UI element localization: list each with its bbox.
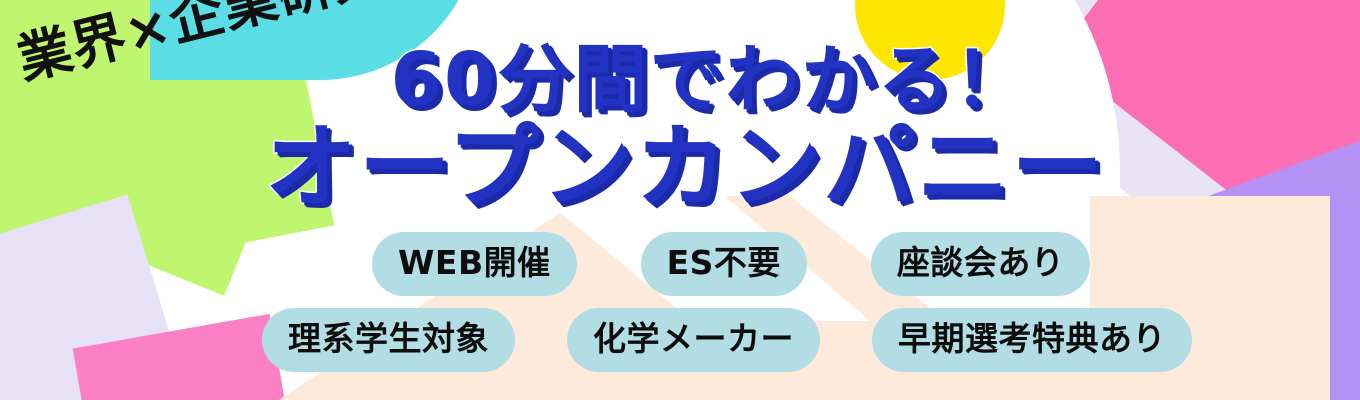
feature-pill-souki-senkou-tokuten-ari: 早期選考特典あり: [872, 308, 1192, 372]
feature-pill-zadankai-ari: 座談会あり: [871, 232, 1091, 296]
feature-pill-rikei-gakusei-taishou: 理系学生対象: [262, 308, 515, 372]
feature-pill-row-2: 理系学生対象 化学メーカー 早期選考特典あり: [0, 308, 1360, 372]
event-banner: 業界×企業研究 60分間でわかる！ オープンカンパニー WEB開催 ES不要 座…: [0, 0, 1360, 400]
feature-pill-group: WEB開催 ES不要 座談会あり 理系学生対象 化学メーカー 早期選考特典あり: [0, 232, 1360, 372]
feature-pill-kagaku-maker: 化学メーカー: [567, 308, 820, 372]
feature-pill-row-1: WEB開催 ES不要 座談会あり: [0, 232, 1360, 296]
feature-pill-es-fuyou: ES不要: [641, 232, 807, 296]
feature-pill-web-kaisai: WEB開催: [372, 232, 577, 296]
